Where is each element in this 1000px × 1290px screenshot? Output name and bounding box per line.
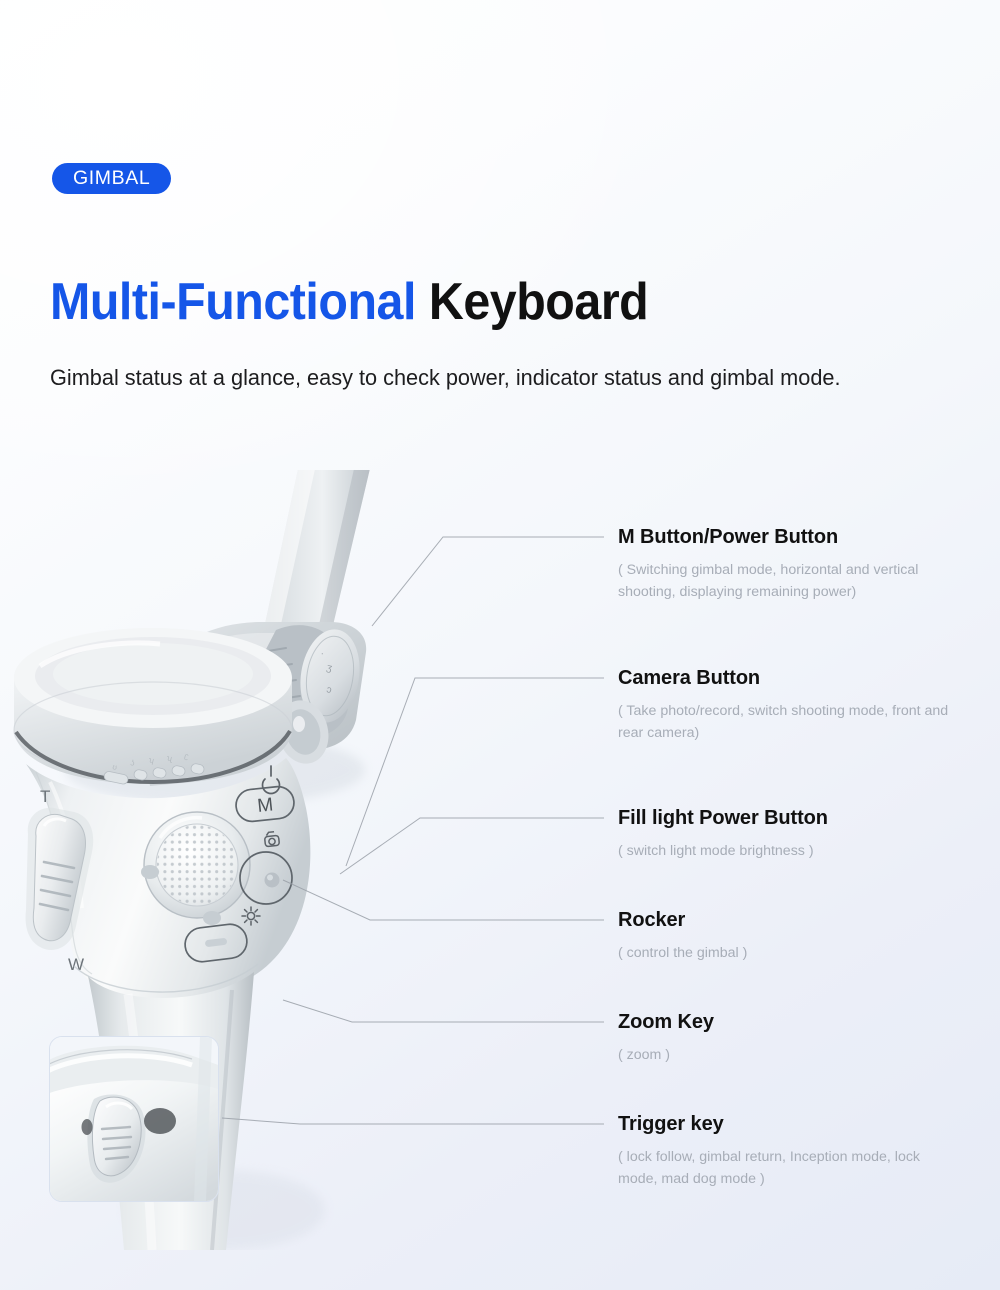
callout-title: Zoom Key	[618, 1009, 714, 1035]
callout-title: Fill light Power Button	[618, 805, 828, 831]
page-title-main: Keyboard	[429, 273, 648, 331]
callout-zoom-key: Zoom Key ( zoom )	[618, 1009, 714, 1066]
callout-title: Camera Button	[618, 665, 962, 691]
callout-camera-button: Camera Button ( Take photo/record, switc…	[618, 665, 962, 744]
page-title: Multi-Functional Keyboard	[50, 271, 648, 333]
product-feature-page: · ʒ ɔ	[0, 0, 1000, 1290]
callout-description: ( control the gimbal )	[618, 942, 747, 964]
leader-line-m-button	[372, 537, 604, 626]
callout-description: ( lock follow, gimbal return, Inception …	[618, 1146, 958, 1190]
callout-description: ( zoom )	[618, 1044, 714, 1066]
callout-m-button: M Button/Power Button ( Switching gimbal…	[618, 524, 940, 603]
page-subtitle: Gimbal status at a glance, easy to check…	[50, 362, 841, 394]
callout-description: ( Switching gimbal mode, horizontal and …	[618, 559, 940, 603]
callout-description: ( switch light mode brightness )	[618, 840, 828, 862]
callout-title: Trigger key	[618, 1111, 958, 1137]
callout-title: M Button/Power Button	[618, 524, 940, 550]
callout-rocker: Rocker ( control the gimbal )	[618, 907, 747, 964]
page-title-accent: Multi-Functional	[50, 273, 416, 331]
callout-description: ( Take photo/record, switch shooting mod…	[618, 700, 962, 744]
callout-title: Rocker	[618, 907, 747, 933]
category-badge: GIMBAL	[52, 163, 171, 194]
callout-trigger-key: Trigger key ( lock follow, gimbal return…	[618, 1111, 958, 1190]
callout-fill-light-button: Fill light Power Button ( switch light m…	[618, 805, 828, 862]
